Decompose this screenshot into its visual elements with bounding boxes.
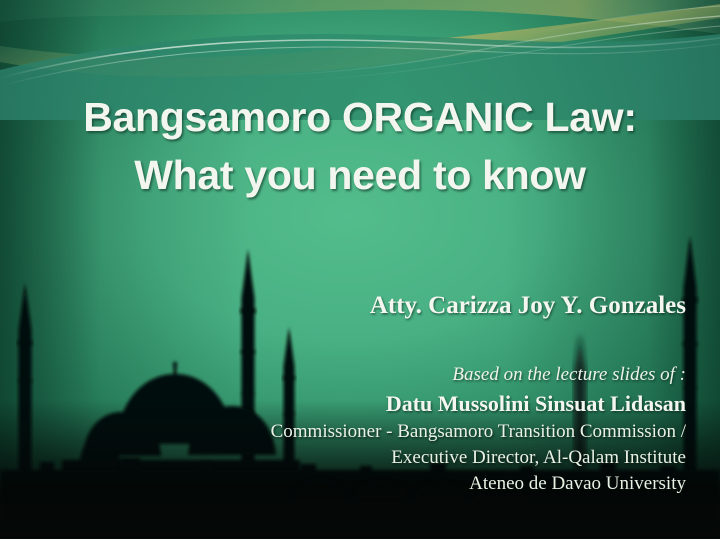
credit-block: Based on the lecture slides of : Datu Mu… <box>0 361 686 497</box>
credit-author-name: Datu Mussolini Sinsuat Lidasan <box>0 388 686 419</box>
title-line-1: Bangsamoro ORGANIC Law: <box>0 88 720 146</box>
presenter-name: Atty. Carizza Joy Y. Gonzales <box>0 291 686 321</box>
credit-affiliation-1: Commissioner - Bangsamoro Transition Com… <box>0 419 686 445</box>
presentation-slide: Bangsamoro ORGANIC Law: What you need to… <box>0 0 720 539</box>
title-line-2: What you need to know <box>0 146 720 204</box>
credit-affiliation-2: Executive Director, Al-Qalam Institute <box>0 445 686 471</box>
credit-intro: Based on the lecture slides of : <box>0 361 686 388</box>
presenter-block: Atty. Carizza Joy Y. Gonzales <box>0 291 686 321</box>
slide-title: Bangsamoro ORGANIC Law: What you need to… <box>0 88 720 204</box>
credit-affiliation-3: Ateneo de Davao University <box>0 471 686 497</box>
